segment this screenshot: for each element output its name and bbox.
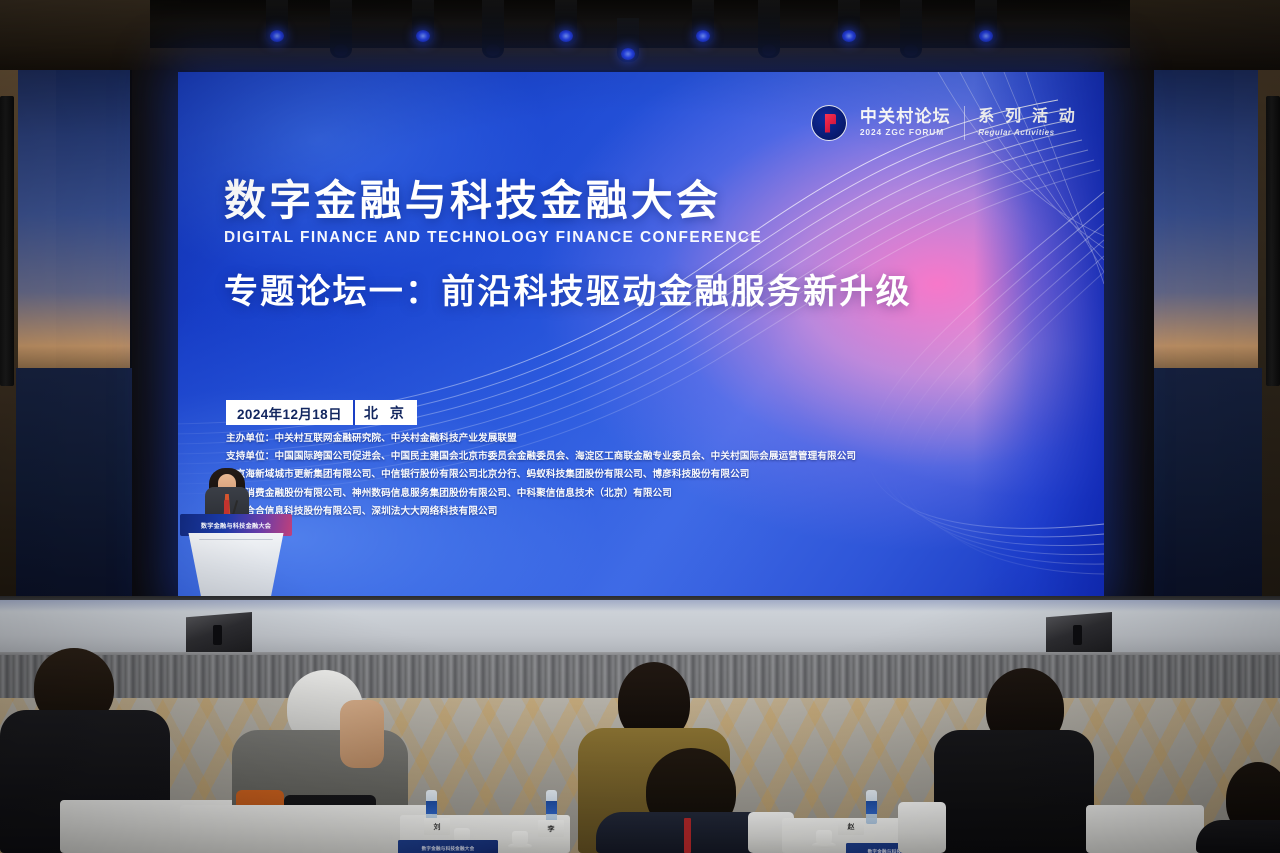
- audience-name-text: 赵: [848, 822, 855, 832]
- podium-banner: 数字金融与科技金融大会: [180, 514, 292, 536]
- audience-name-tent: 赵: [838, 818, 864, 835]
- stage-light: [975, 0, 997, 44]
- zgc-emblem-glyph: [821, 114, 836, 133]
- audience-lanyard: [684, 818, 691, 853]
- teacup: [816, 830, 832, 846]
- conference-title-cn: 数字金融与科技金融大会: [224, 178, 912, 224]
- audience-body: [934, 730, 1094, 853]
- organizer-line: 上海合合信息科技股份有限公司、深圳法大大网络科技有限公司: [226, 507, 926, 517]
- date-location-badge: 2024年12月18日 北 京: [226, 400, 417, 425]
- wall-gap-right: [1102, 70, 1154, 610]
- ceiling-left-soffit: [0, 0, 150, 78]
- audience-name-tent: 刘: [424, 818, 450, 835]
- audience-body: [1196, 820, 1280, 853]
- audience-sofa: [1086, 805, 1204, 853]
- stage-light: [555, 0, 577, 44]
- conference-hall-photo: 中关村论坛 2024 ZGC FORUM 系 列 活 动 Regular Act…: [0, 0, 1280, 853]
- stage-light-off: [482, 0, 504, 58]
- stage-monitor-left: [186, 612, 252, 656]
- audience-sofa: [180, 805, 432, 853]
- organizer-line: 马上消费金融股份有限公司、神州数码信息服务集团股份有限公司、中科聚信信息技术（北…: [226, 489, 926, 499]
- organizer-line: 主办单位：中关村互联网金融研究院、中关村金融科技产业发展联盟: [226, 434, 926, 444]
- logo-series-en: Regular Activities: [978, 128, 1078, 137]
- line-array-speaker-left: [0, 96, 14, 386]
- wall-gap-left: [132, 70, 180, 610]
- stage-light: [838, 0, 860, 44]
- stage-light: [412, 0, 434, 44]
- organizer-line: 支持单位：中国国际跨国公司促进会、中国民主建国会北京市委员会金融委员会、海淀区工…: [226, 452, 926, 462]
- stage-light-off: [758, 0, 780, 58]
- ceiling-right-soffit: [1130, 0, 1280, 78]
- stage-light: [266, 0, 288, 44]
- event-city-label: 北 京: [364, 403, 408, 423]
- logo-text-series: 系 列 活 动 Regular Activities: [978, 109, 1078, 137]
- conference-title-en: DIGITAL FINANCE AND TECHNOLOGY FINANCE C…: [224, 229, 912, 247]
- logo-text-primary: 中关村论坛 2024 ZGC FORUM: [860, 108, 951, 138]
- logo-divider: [964, 106, 965, 140]
- table-name-card: 数字金融与科技金融大会: [398, 840, 498, 853]
- audience-name-tent: 李: [538, 820, 564, 837]
- logo-series-cn: 系 列 活 动: [978, 109, 1078, 126]
- forum-logo: 中关村论坛 2024 ZGC FORUM 系 列 活 动 Regular Act…: [811, 100, 1078, 146]
- led-screen: 中关村论坛 2024 ZGC FORUM 系 列 活 动 Regular Act…: [178, 72, 1104, 602]
- stage-light-off: [900, 0, 922, 58]
- stage-light: [692, 0, 714, 44]
- wall-panel-left-lower: [16, 368, 138, 608]
- audience-name-text: 刘: [434, 822, 441, 832]
- line-array-speaker-right: [1266, 96, 1280, 386]
- water-bottle: [546, 790, 557, 824]
- wall-panel-right-upper: [1152, 70, 1258, 370]
- logo-cn-name: 中关村论坛: [860, 108, 951, 126]
- stage-monitor-right: [1046, 612, 1112, 656]
- slide-title-group: 数字金融与科技金融大会 DIGITAL FINANCE AND TECHNOLO…: [224, 178, 912, 313]
- table-name-card-text: 数字金融与科技金融大会: [422, 846, 475, 852]
- organizer-line: 北京海新域城市更新集团有限公司、中信银行股份有限公司北京分行、蚂蚁科技集团股份有…: [226, 470, 926, 480]
- event-city: 北 京: [353, 400, 417, 425]
- stage-light: [617, 18, 639, 62]
- sofa-armrest: [898, 802, 946, 853]
- audience-arm: [340, 700, 384, 768]
- forum-subtitle-cn: 专题论坛一：前沿科技驱动金融服务新升级: [224, 264, 912, 313]
- water-bottle: [866, 790, 877, 824]
- podium-banner-text: 数字金融与科技金融大会: [201, 521, 271, 530]
- zgc-emblem-icon: [811, 105, 847, 141]
- wall-panel-left-upper: [18, 70, 130, 370]
- audience-name-text: 李: [548, 824, 555, 834]
- teacup: [512, 831, 528, 847]
- stage-light-off: [330, 0, 352, 58]
- logo-en-name: 2024 ZGC FORUM: [860, 128, 951, 138]
- event-date: 2024年12月18日: [226, 400, 353, 425]
- organizer-list: 主办单位：中关村互联网金融研究院、中关村金融科技产业发展联盟 支持单位：中国国际…: [226, 434, 926, 525]
- speaker-lanyard: [224, 500, 229, 514]
- wall-panel-right-lower: [1150, 368, 1262, 608]
